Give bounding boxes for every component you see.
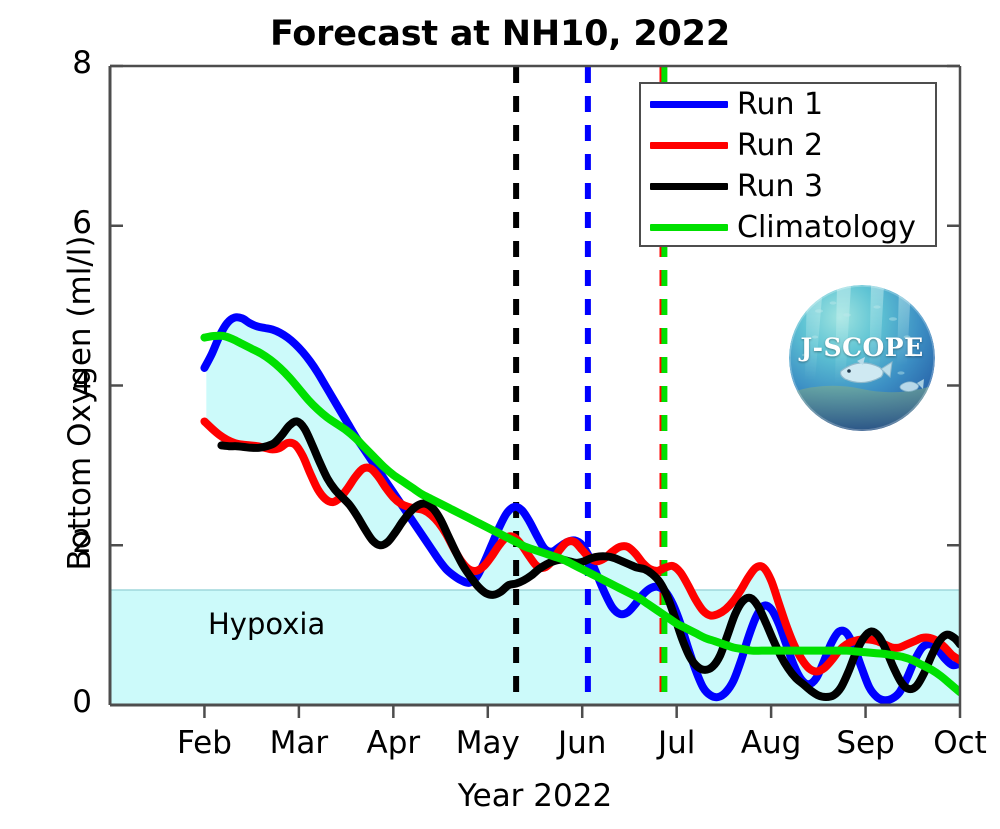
j-scope-logo: J-SCOPE <box>789 285 935 431</box>
legend-swatch-run-2 <box>650 142 728 149</box>
legend-swatch-run-3 <box>650 183 728 190</box>
y-tick-4: 4 <box>42 365 92 401</box>
y-tick-8: 8 <box>42 45 92 81</box>
y-tick-0: 0 <box>42 684 92 720</box>
legend-item-climatology[interactable]: Climatology <box>641 207 935 248</box>
legend-item-run-2[interactable]: Run 2 <box>641 125 935 166</box>
legend-label-climatology: Climatology <box>737 213 916 243</box>
legend-item-run-3[interactable]: Run 3 <box>641 166 935 207</box>
legend-label-run-2: Run 2 <box>737 131 823 161</box>
chart-legend[interactable]: Run 1 Run 2 Run 3 Climatology <box>639 82 937 247</box>
legend-item-run-1[interactable]: Run 1 <box>641 84 935 125</box>
legend-swatch-run-1 <box>650 101 728 108</box>
y-tick-6: 6 <box>42 205 92 241</box>
legend-swatch-climatology <box>650 224 728 231</box>
legend-label-run-3: Run 3 <box>737 172 823 202</box>
legend-label-run-1: Run 1 <box>737 90 823 120</box>
chart-page: Forecast at NH10, 2022 <box>0 0 1000 829</box>
y-tick-2: 2 <box>42 524 92 560</box>
logo-text: J-SCOPE <box>789 333 935 362</box>
x-tick-oct: Oct <box>900 725 1000 761</box>
hypoxia-annotation: Hypoxia <box>208 607 325 641</box>
x-axis-label: Year 2022 <box>110 778 960 814</box>
